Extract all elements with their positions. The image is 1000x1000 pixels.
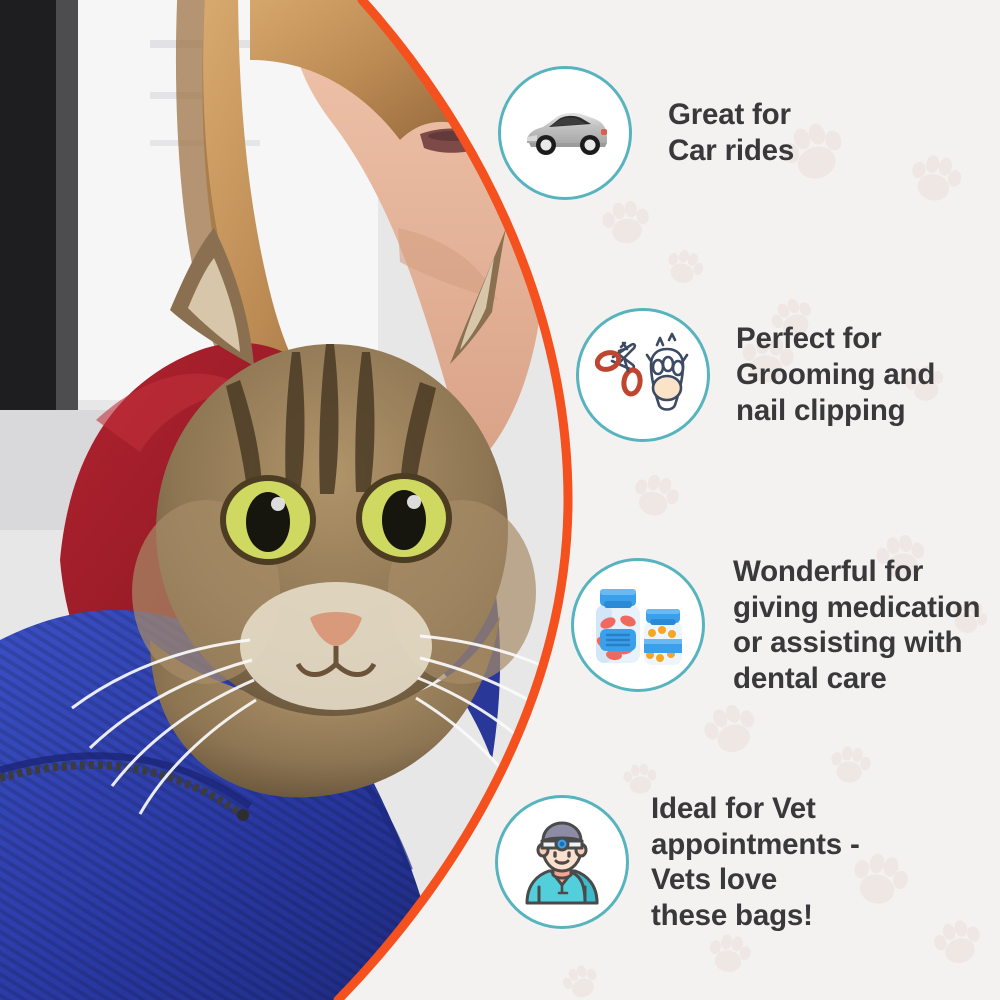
car-icon xyxy=(517,105,613,161)
feature-item-car-rides: Great for Car rides xyxy=(498,66,794,200)
pill-bottles-icon xyxy=(586,579,690,671)
feature-list: Great for Car rides xyxy=(0,0,1000,1000)
infographic-canvas: Great for Car rides xyxy=(0,0,1000,1000)
feature-item-medication: Wonderful for giving medication or assis… xyxy=(571,554,980,697)
veterinarian-icon xyxy=(515,815,609,909)
nail-clipper-paw-icon xyxy=(595,331,691,419)
feature-item-vet: Ideal for Vet appointments - Vets love t… xyxy=(495,791,860,934)
feature-text-grooming: Perfect for Grooming and nail clipping xyxy=(736,321,935,428)
feature-icon-badge xyxy=(498,66,632,200)
feature-icon-badge xyxy=(576,308,710,442)
feature-text-medication: Wonderful for giving medication or assis… xyxy=(733,554,980,697)
feature-icon-badge xyxy=(495,795,629,929)
feature-text-vet: Ideal for Vet appointments - Vets love t… xyxy=(651,791,860,934)
feature-icon-badge xyxy=(571,558,705,692)
feature-item-grooming: Perfect for Grooming and nail clipping xyxy=(576,308,935,442)
feature-text-car-rides: Great for Car rides xyxy=(668,97,794,168)
